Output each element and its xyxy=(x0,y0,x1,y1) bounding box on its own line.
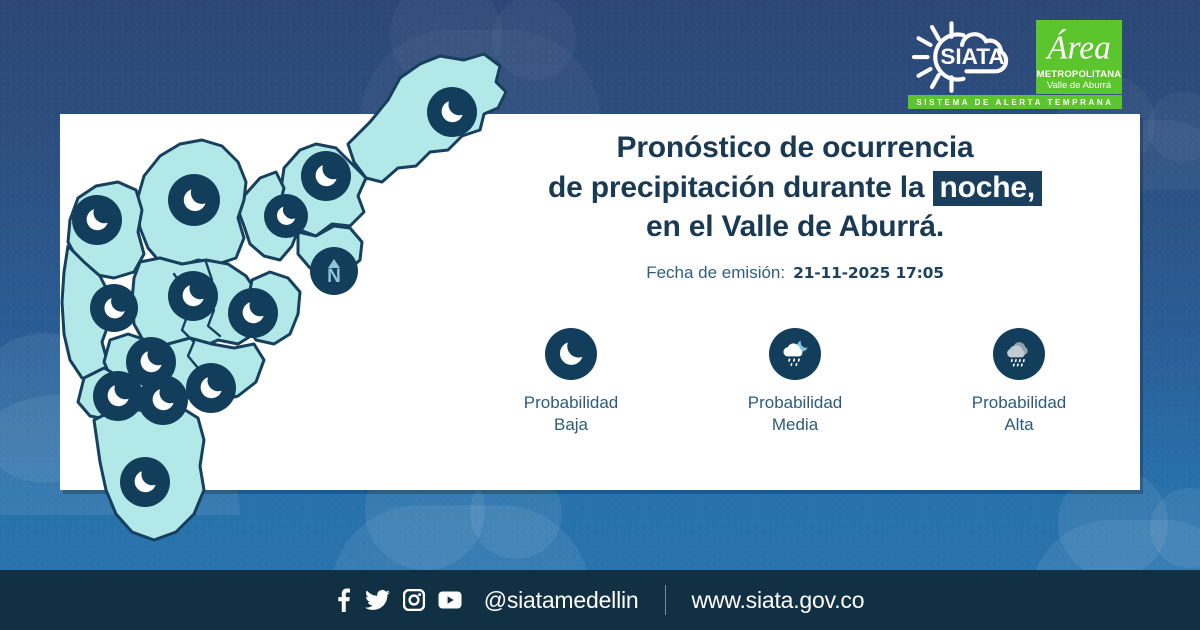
legend-item-media: Probabilidad Media xyxy=(720,328,870,437)
moon-icon xyxy=(148,385,178,415)
social-handle[interactable]: @siatamedellin xyxy=(484,587,639,614)
headline-line-2-text: de precipitación durante la xyxy=(548,171,924,204)
moon-icon xyxy=(555,338,587,370)
map-marker-medellin-oeste xyxy=(90,284,138,332)
legend-label-baja: Probabilidad Baja xyxy=(496,392,646,437)
moon-icon xyxy=(82,205,112,235)
area-metropolitana-logo: Área METROPOLITANA Valle de Aburrá xyxy=(1036,20,1122,94)
moon-icon xyxy=(178,281,208,311)
headline-line-1: Pronóstico de ocurrencia xyxy=(470,128,1120,168)
footer-divider xyxy=(665,585,666,615)
map-marker-sabaneta xyxy=(93,371,143,421)
map-marker-bello xyxy=(168,174,220,226)
legend-item-alta: Probabilidad Alta xyxy=(944,328,1094,437)
moon-icon xyxy=(311,161,341,191)
headline-panel: Pronóstico de ocurrencia de precipitació… xyxy=(470,128,1120,283)
area-script-text: Área xyxy=(1045,29,1111,66)
emission-date: Fecha de emisión: 21-11-2025 17:05 xyxy=(470,263,1120,283)
poster-root: SIATA Área METROPOLITANA Valle de Aburrá… xyxy=(0,0,1200,630)
moon-icon xyxy=(179,185,210,216)
map-marker-girardota xyxy=(301,151,351,201)
headline-highlight-noche: noche, xyxy=(933,171,1042,207)
legend-label-media: Probabilidad Media xyxy=(720,392,870,437)
moon-icon xyxy=(238,298,268,328)
moon-icon xyxy=(273,203,299,229)
area-valle-label: Valle de Aburrá xyxy=(1047,80,1111,91)
moon-icon xyxy=(103,381,133,411)
area-script-icon: Área xyxy=(1039,21,1119,69)
instagram-icon xyxy=(403,589,425,611)
facebook-link[interactable] xyxy=(336,588,352,612)
legend-item-baja: Probabilidad Baja xyxy=(496,328,646,437)
headline-line-3: en el Valle de Aburrá. xyxy=(470,207,1120,247)
emission-date-label: Fecha de emisión: xyxy=(646,263,785,283)
map-marker-medellin-norte xyxy=(168,271,218,321)
youtube-icon xyxy=(438,591,462,609)
moon-icon xyxy=(100,294,129,323)
tagline-bar: SISTEMA DE ALERTA TEMPRANA xyxy=(908,95,1122,109)
cloud-rain-moon-icon xyxy=(777,336,813,372)
headline-line-2: de precipitación durante la noche, xyxy=(470,168,1120,208)
map-marker-guarne xyxy=(228,288,278,338)
instagram-link[interactable] xyxy=(403,589,425,611)
cloud-heavy-rain-icon xyxy=(1001,336,1037,372)
legend-icon-wrap-media xyxy=(769,328,821,380)
map-marker-san-pedro xyxy=(72,195,122,245)
legend-icon-wrap-baja xyxy=(545,328,597,380)
map-marker-la-estrella xyxy=(138,375,188,425)
map-marker-copacabana xyxy=(264,194,308,238)
emission-date-value: 21-11-2025 17:05 xyxy=(793,264,944,282)
siata-logo-icon: SIATA xyxy=(908,20,1028,94)
legend-icon-wrap-alta xyxy=(993,328,1045,380)
footer-bar: @siatamedellin www.siata.gov.co xyxy=(0,570,1200,630)
moon-icon xyxy=(136,347,166,377)
moon-icon xyxy=(130,467,160,497)
social-icons xyxy=(336,588,462,612)
website-url[interactable]: www.siata.gov.co xyxy=(692,587,865,614)
page-title: Pronóstico de ocurrencia de precipitació… xyxy=(470,128,1120,247)
area-metropolitana-label: METROPOLITANA xyxy=(1037,69,1122,80)
logo-group: SIATA Área METROPOLITANA Valle de Aburrá xyxy=(908,20,1122,94)
facebook-icon xyxy=(336,588,352,612)
map-compass: N xyxy=(310,247,358,295)
moon-icon xyxy=(196,373,226,403)
area-script-wrap: Área xyxy=(1036,20,1122,69)
map-marker-caldas xyxy=(120,457,170,507)
probability-legend: Probabilidad Baja xyxy=(470,328,1120,437)
twitter-icon xyxy=(365,588,390,612)
compass-north-label: N xyxy=(327,269,341,284)
siata-wordmark: SIATA xyxy=(940,44,1004,69)
map-marker-envigado xyxy=(186,363,236,413)
legend-label-alta: Probabilidad Alta xyxy=(944,392,1094,437)
moon-icon xyxy=(437,97,467,127)
twitter-link[interactable] xyxy=(365,588,390,612)
youtube-link[interactable] xyxy=(438,591,462,609)
